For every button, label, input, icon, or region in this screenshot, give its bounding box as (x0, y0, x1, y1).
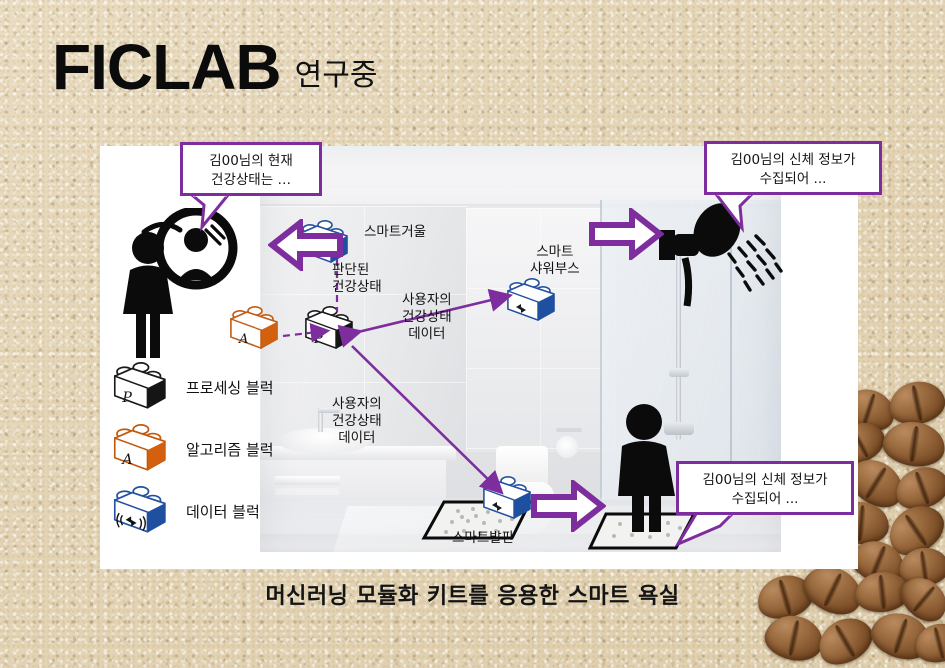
callout-mat: 김00님의 신체 정보가 수집되어 ... (676, 461, 854, 515)
svg-text:A: A (238, 332, 248, 347)
callout-mat-line1: 김00님의 신체 정보가 (687, 471, 843, 490)
label-user-health-data-lower-line2: 건강상태 (332, 413, 382, 430)
callout-shower-line2: 수집되어 ... (715, 170, 871, 189)
label-user-health-data-lower: 사용자의 건강상태 데이터 (332, 396, 382, 447)
lego-block-black-processing-icon: P (300, 306, 362, 352)
callout-mirror: 김00님의 현재 건강상태는 … (180, 142, 322, 196)
lego-block-blue-shower-icon (502, 278, 564, 324)
lego-block-black-icon: P (108, 362, 176, 412)
label-user-health-data-lower-line3: 데이터 (332, 430, 382, 447)
svg-text:A: A (120, 452, 132, 468)
header: FICLAB 연구중 (52, 36, 377, 98)
label-smart-mirror: 스마트거울 (364, 224, 426, 241)
callout-mirror-line1: 김00님의 현재 (191, 152, 311, 171)
label-smart-mat: 스마트발판 (452, 530, 514, 547)
legend-item-algorithm: A 알고리즘 블럭 (108, 424, 274, 474)
legend-label-data: 데이터 블럭 (186, 501, 260, 522)
label-smart-shower: 스마트 샤워부스 (530, 244, 580, 278)
callout-mat-line2: 수집되어 ... (687, 490, 843, 509)
label-judged-health: 판단된 건강상태 (332, 262, 382, 296)
legend-item-data: 데이터 블럭 (108, 486, 260, 536)
callout-shower-line1: 김00님의 신체 정보가 (715, 151, 871, 170)
label-user-health-data-upper-line1: 사용자의 (402, 292, 452, 309)
label-user-health-data-lower-line1: 사용자의 (332, 396, 382, 413)
legend-label-processing: 프로세싱 블럭 (186, 377, 274, 398)
callout-mirror-line2: 건강상태는 … (191, 171, 311, 190)
lego-block-orange-legend-icon: A (108, 424, 176, 474)
label-smart-shower-line1: 스마트 (530, 244, 580, 261)
callout-shower-tail (690, 192, 764, 238)
label-user-health-data-upper-line3: 데이터 (402, 326, 452, 343)
svg-text:P: P (121, 390, 132, 406)
page-subtitle: 연구중 (295, 50, 378, 98)
lego-block-orange-icon: A (225, 306, 287, 352)
callout-shower: 김00님의 신체 정보가 수집되어 ... (704, 141, 882, 195)
legend-item-processing: P 프로세싱 블럭 (108, 362, 274, 412)
arrow-right-to-person-on-mat (530, 480, 606, 532)
label-judged-health-line1: 판단된 (332, 262, 382, 279)
label-user-health-data-upper-line2: 건강상태 (402, 309, 452, 326)
label-judged-health-line2: 건강상태 (332, 279, 382, 296)
callout-mat-tail (666, 512, 744, 554)
callout-mirror-tail (182, 193, 252, 235)
legend-label-algorithm: 알고리즘 블럭 (186, 439, 274, 460)
lego-block-blue-wifi-icon (108, 486, 176, 536)
arrow-right-to-shower (588, 208, 664, 260)
figure-caption: 머신러닝 모듈화 키트를 응용한 스마트 욕실 (0, 578, 945, 610)
svg-text:P: P (313, 332, 323, 347)
label-user-health-data-upper: 사용자의 건강상태 데이터 (402, 292, 452, 343)
page-title: FICLAB (52, 36, 281, 98)
label-smart-shower-line2: 샤워부스 (530, 261, 580, 278)
